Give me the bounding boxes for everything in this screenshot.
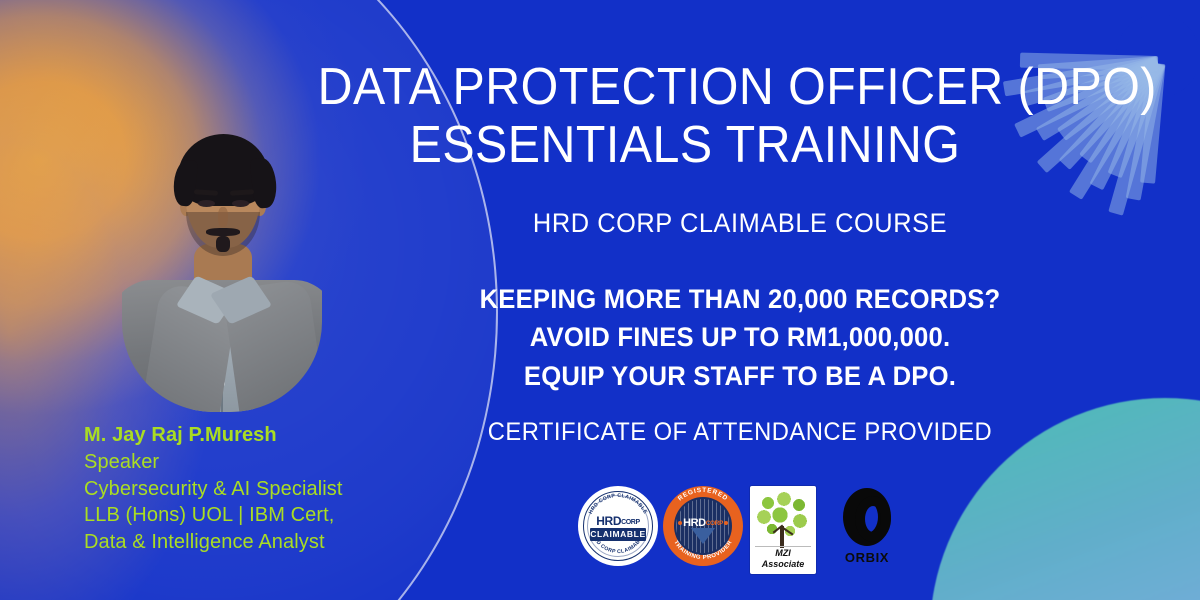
speaker-specialty: Cybersecurity & AI Specialist <box>84 476 343 503</box>
badge-wordmark: HRDCORP <box>663 517 743 529</box>
speaker-photo-mask <box>122 112 322 412</box>
pitch-line-2: AVOID FINES UP TO RM1,000,000. <box>455 318 1025 356</box>
speaker-credentials-line-2: Data & Intelligence Analyst <box>84 529 343 556</box>
hrd-corp-claimable-logo: HRD CORP CLAIMABLE HRD CORP CLAIMABLE HR… <box>578 486 658 566</box>
title-line-1: DATA PROTECTION OFFICER (DPO) <box>318 58 1053 116</box>
photo-eye-left <box>198 200 215 207</box>
course-subtitle: HRD CORP CLAIMABLE COURSE <box>458 208 1022 239</box>
certificate-note: CERTIFICATE OF ATTENDANCE PROVIDED <box>455 418 1025 447</box>
mzi-associate-logo: MZI Associate <box>750 486 816 574</box>
mzi-line-2: Associate <box>750 559 816 570</box>
svg-text:HRD CORP CLAIMABLE: HRD CORP CLAIMABLE <box>588 493 648 515</box>
photo-eye-right <box>232 200 249 207</box>
speaker-name: M. Jay Raj P.Muresh <box>84 422 343 449</box>
pitch-line-1: KEEPING MORE THAN 20,000 RECORDS? <box>455 280 1025 318</box>
orbix-inner-ring-icon <box>855 496 891 542</box>
logo-divider <box>755 546 811 547</box>
pitch-line-3: EQUIP YOUR STAFF TO BE A DPO. <box>455 357 1025 395</box>
speaker-credentials-line-1: LLB (Hons) UOL | IBM Cert, <box>84 502 343 529</box>
title-line-2: ESSENTIALS TRAINING <box>318 116 1053 174</box>
orbix-label: ORBIX <box>825 550 909 565</box>
page-title: DATA PROTECTION OFFICER (DPO) ESSENTIALS… <box>318 58 1053 174</box>
badge-banner-text: CLAIMABLE <box>590 528 646 541</box>
speaker-role: Speaker <box>84 449 343 476</box>
badge-wordmark: HRDCORP <box>578 514 658 528</box>
hrd-corp-registered-logo: REGISTERED TRAINING PROVIDER HRDCORP <box>663 486 743 566</box>
pitch-block: KEEPING MORE THAN 20,000 RECORDS? AVOID … <box>455 280 1025 395</box>
photo-goatee <box>216 236 230 252</box>
photo-nose <box>218 207 228 227</box>
speaker-photo <box>122 112 322 412</box>
event-banner: DATA PROTECTION OFFICER (DPO) ESSENTIALS… <box>0 0 1200 600</box>
logo-strip: HRD CORP CLAIMABLE HRD CORP CLAIMABLE HR… <box>575 486 910 578</box>
badge-arc-top-text: HRD CORP CLAIMABLE <box>588 493 648 515</box>
orbix-logo: ORBIX <box>825 486 909 574</box>
speaker-credentials: M. Jay Raj P.Muresh Speaker Cybersecurit… <box>84 422 343 556</box>
mzi-line-1: MZI <box>750 548 816 559</box>
mzi-label: MZI Associate <box>750 548 816 570</box>
photo-moustache <box>206 228 240 236</box>
